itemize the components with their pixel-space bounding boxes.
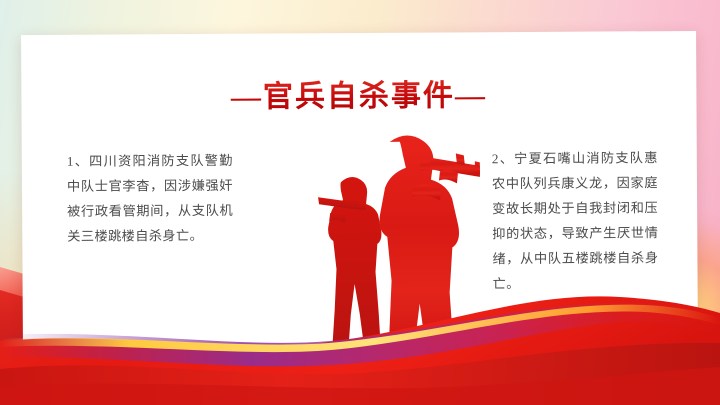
slide: —官兵自杀事件— 1、四川资阳消防支队警勤中队士官李杳，因涉嫌强奸被行政看管期间… [0, 0, 720, 405]
page-title: —官兵自杀事件— [21, 69, 696, 117]
ribbon-decoration-icon [0, 295, 720, 405]
case-text-right: 2、宁夏石嘴山消防支队惠农中队列兵康义龙，因家庭变故长期处于自我封闭和压抑的状态… [492, 145, 659, 296]
case-text-left: 1、四川资阳消防支队警勤中队士官李杳，因涉嫌强奸被行政看管期间，从支队机关三楼跳… [67, 148, 234, 249]
